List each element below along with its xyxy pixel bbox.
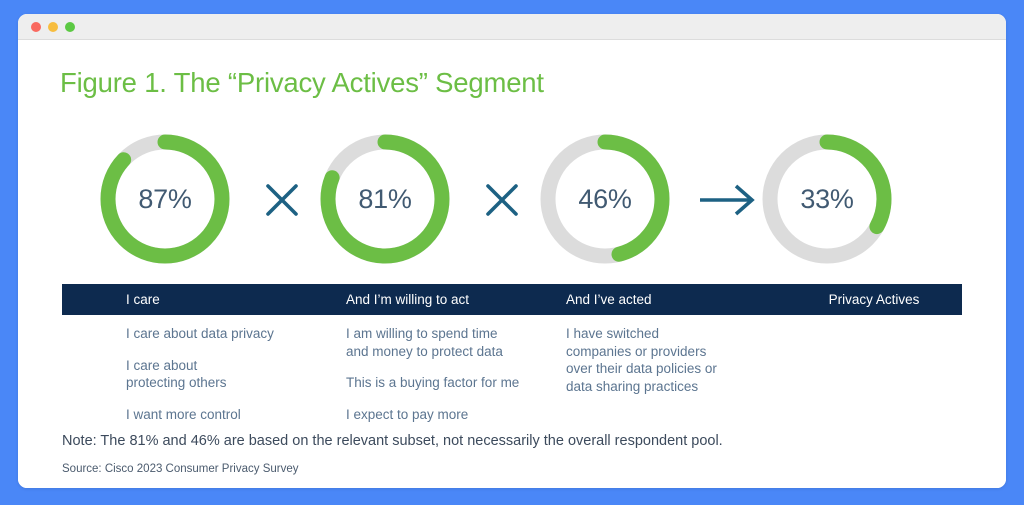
donut-chart-i-care: 87% [92,126,238,272]
column-header-i-care: I care [126,284,160,315]
arrow-right-icon [696,180,760,224]
donut-chart-row: 87% 81% 46% [62,126,962,272]
multiply-icon [480,178,524,222]
donut-chart-willing-to-act: 81% [312,126,458,272]
figure-source: Source: Cisco 2023 Consumer Privacy Surv… [62,463,299,475]
statement-item: I want more control [126,406,341,424]
column-header-willing-to-act: And I’m willing to act [346,284,469,315]
statement-item: I have switched companies or providers o… [566,325,781,395]
statement-item: I care about protecting others [126,357,341,392]
figure-content: Figure 1. The “Privacy Actives” Segment … [18,40,1006,488]
statement-item: I am willing to spend time and money to … [346,325,568,360]
close-window-button[interactable] [31,22,41,32]
column-header-band: I care And I’m willing to act And I’ve a… [62,284,962,315]
page-title: Figure 1. The “Privacy Actives” Segment [60,67,544,99]
donut-value-label: 81% [312,126,458,272]
donut-value-label: 33% [754,126,900,272]
browser-window: Figure 1. The “Privacy Actives” Segment … [18,14,1006,488]
statement-columns: I care about data privacy I care about p… [62,325,962,435]
maximize-window-button[interactable] [65,22,75,32]
donut-chart-have-acted: 46% [532,126,678,272]
donut-chart-privacy-actives: 33% [754,126,900,272]
statement-column-i-care: I care about data privacy I care about p… [126,325,341,423]
statement-column-have-acted: I have switched companies or providers o… [566,325,781,395]
multiply-icon [260,178,304,222]
donut-value-label: 87% [92,126,238,272]
statement-column-willing-to-act: I am willing to spend time and money to … [346,325,568,423]
window-titlebar [18,14,1006,40]
figure-note: Note: The 81% and 46% are based on the r… [62,433,723,449]
statement-item: This is a buying factor for me [346,374,568,392]
column-header-have-acted: And I’ve acted [566,284,652,315]
minimize-window-button[interactable] [48,22,58,32]
column-header-privacy-actives: Privacy Actives [786,284,962,315]
statement-item: I care about data privacy [126,325,341,343]
statement-item: I expect to pay more [346,406,568,424]
donut-value-label: 46% [532,126,678,272]
